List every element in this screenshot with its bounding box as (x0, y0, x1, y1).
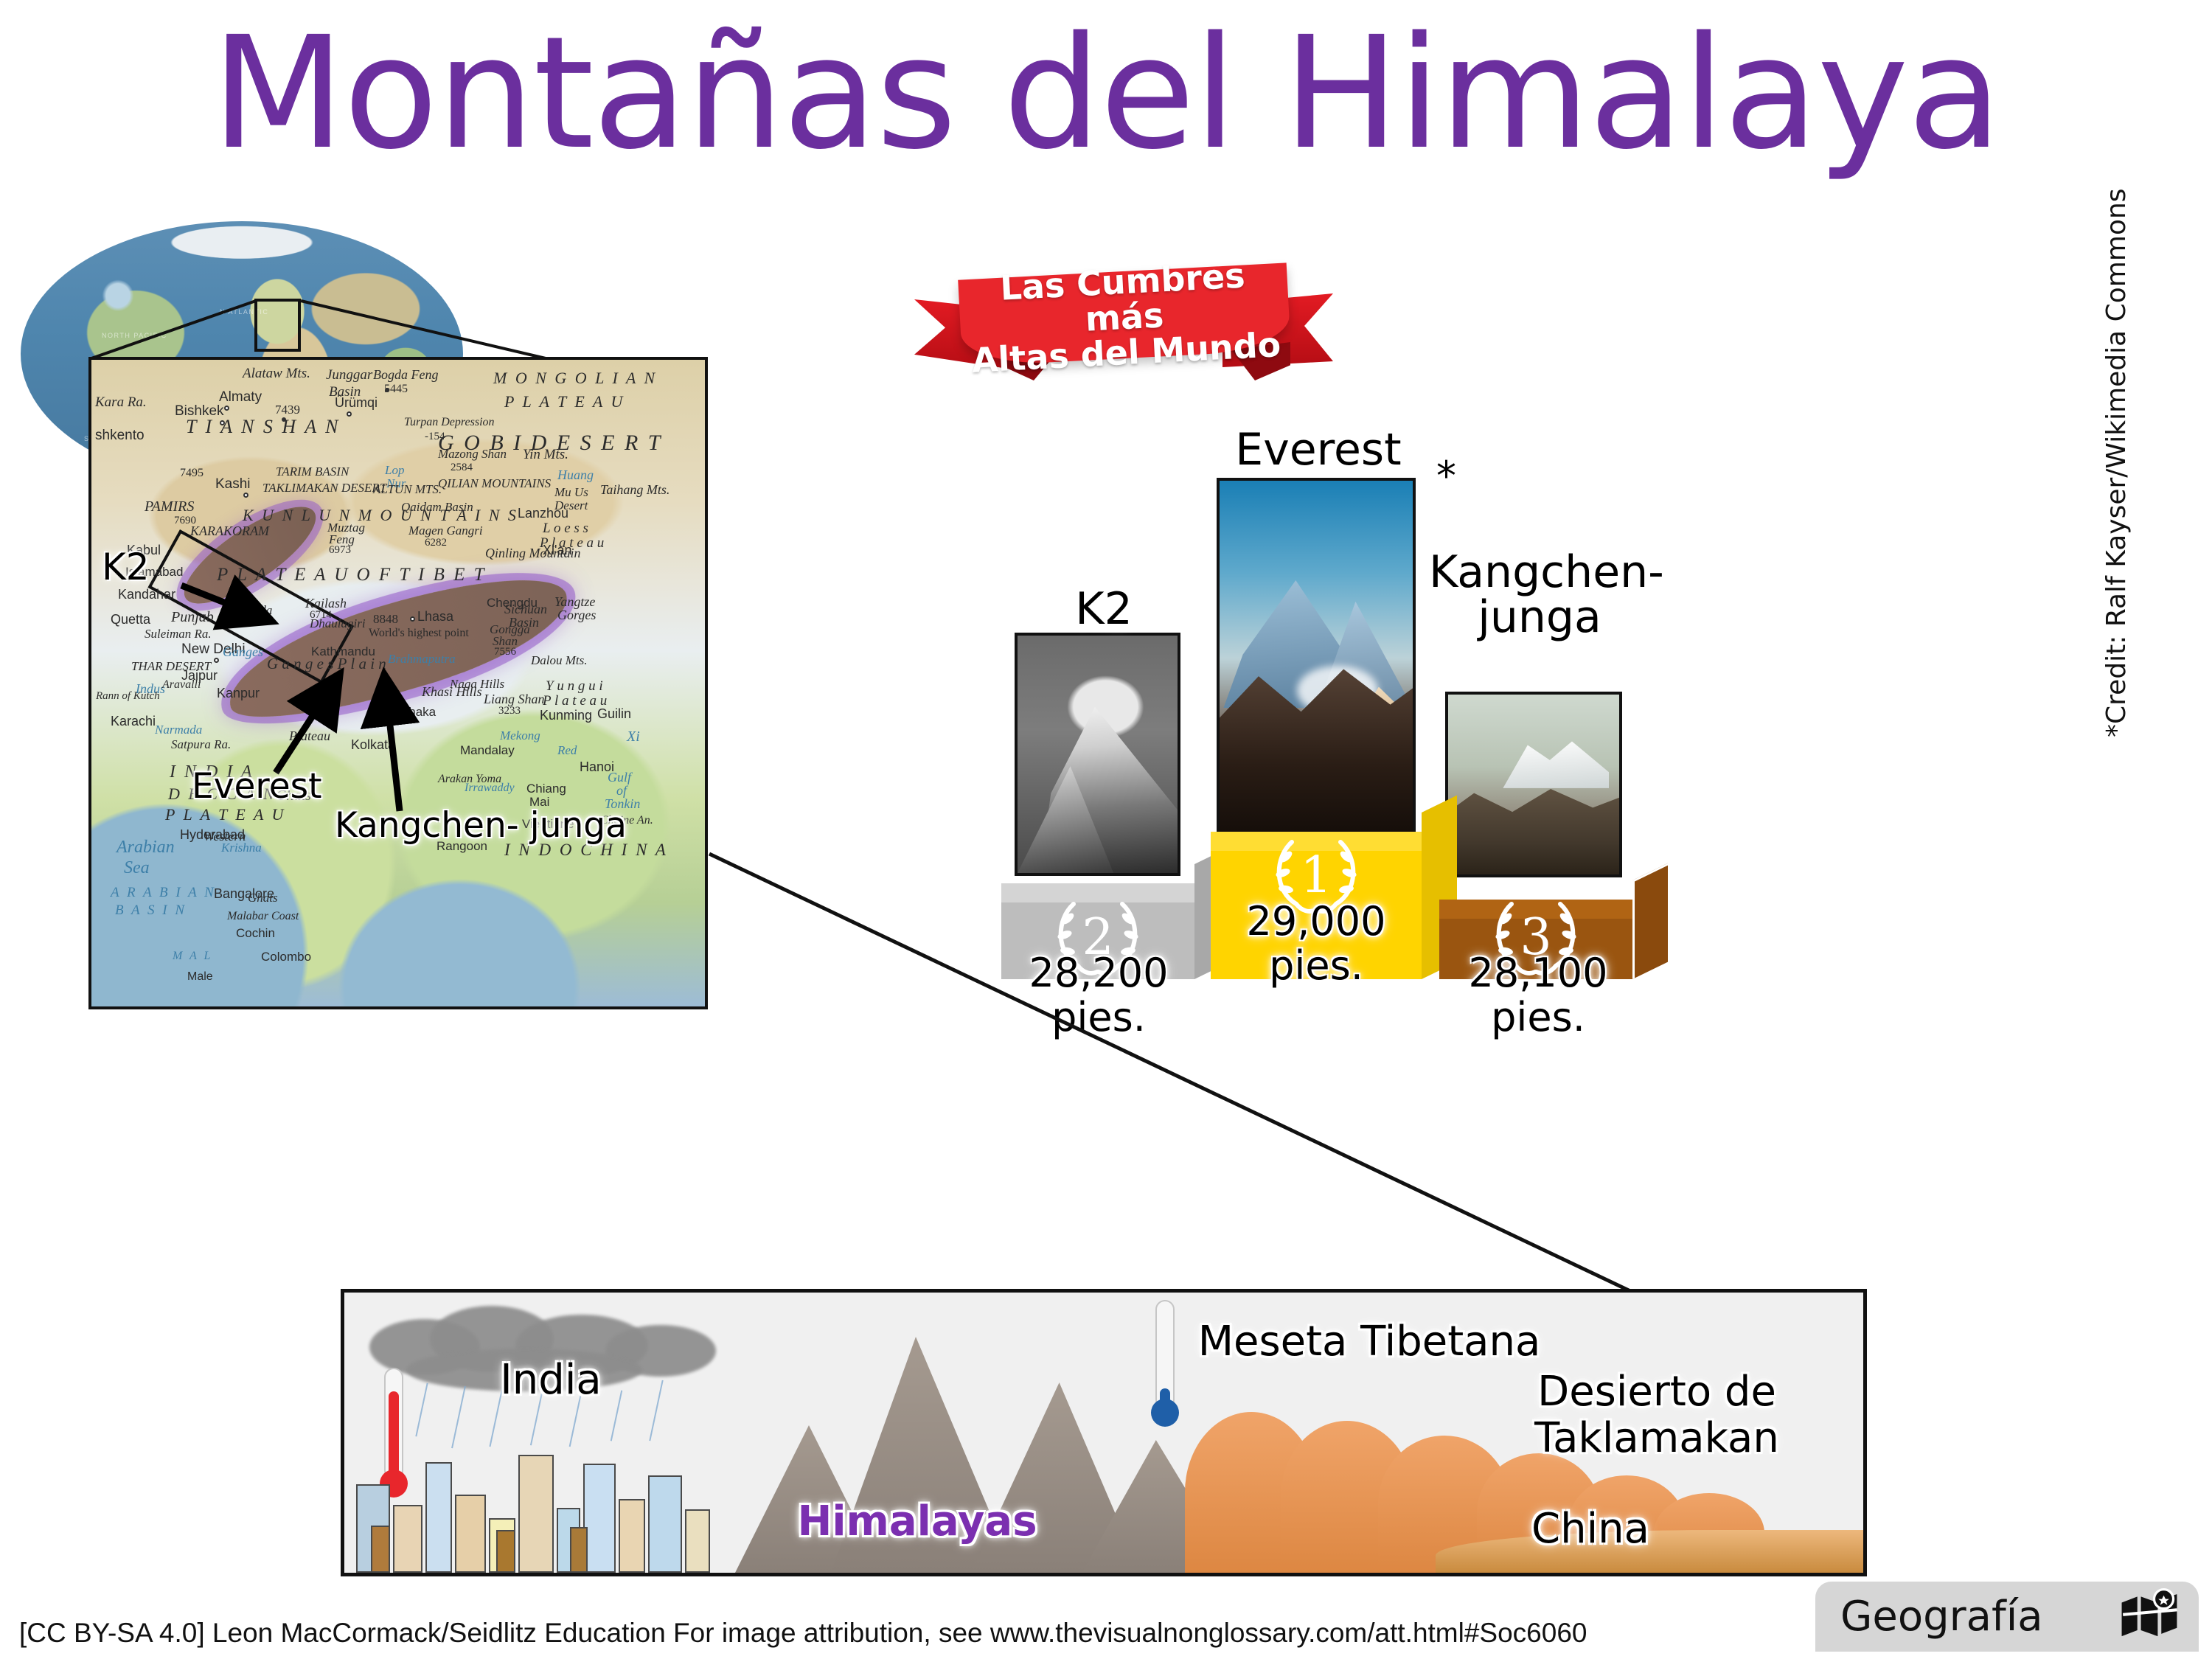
thermometer-cold-icon (1155, 1300, 1175, 1409)
xsec-label-india: India (455, 1357, 647, 1404)
podium-label-k2: K2 (1034, 587, 1174, 632)
regional-map-panel[interactable]: Alataw Mts.JunggarBasinBogda Feng5445Ürü… (88, 357, 708, 1009)
infographic-page: Montañas del Himalaya NORTH PACIFIC N AT… (0, 0, 2212, 1659)
map-pin-icon (2119, 1588, 2180, 1640)
india-skyline-illustration (352, 1433, 735, 1573)
map-label-everest: Everest (192, 769, 322, 804)
xsec-label-desierto-taklamakan: Desierto de Taklamakan (1465, 1369, 1848, 1461)
side-credit: *Credit: Ralf Kayser/Wikimedia Commons (2101, 221, 2132, 737)
map-label-k2: K2 (102, 546, 150, 588)
map-label-kangchenjunga: Kangchen- junga (335, 808, 627, 843)
footer-attribution: [CC BY-SA 4.0] Leon MacCormack/Seidlitz … (19, 1618, 1587, 1649)
xsec-leader-lines (664, 737, 1917, 1327)
cross-section-panel[interactable]: India Himalayas Meseta Tibetana China De… (341, 1289, 1867, 1576)
subject-badge: Geografía (1815, 1582, 2199, 1652)
subject-label: Geografía (1840, 1593, 2043, 1641)
ribbon-banner: Las Cumbres más Altas del Mundo (914, 271, 1327, 389)
everest-asterisk: * (1436, 453, 1456, 499)
podium-label-kangchenjunga: Kangchen- junga (1429, 550, 1650, 640)
xsec-label-himalayas: Himalayas (796, 1499, 1039, 1545)
podium-label-everest: Everest (1222, 428, 1414, 473)
map-peak-arrows (91, 360, 708, 1009)
xsec-label-meseta-tibetana: Meseta Tibetana (1178, 1319, 1561, 1366)
ribbon-text: Las Cumbres más Altas del Mundo (958, 267, 1290, 366)
xsec-label-china: China (1495, 1506, 1686, 1553)
